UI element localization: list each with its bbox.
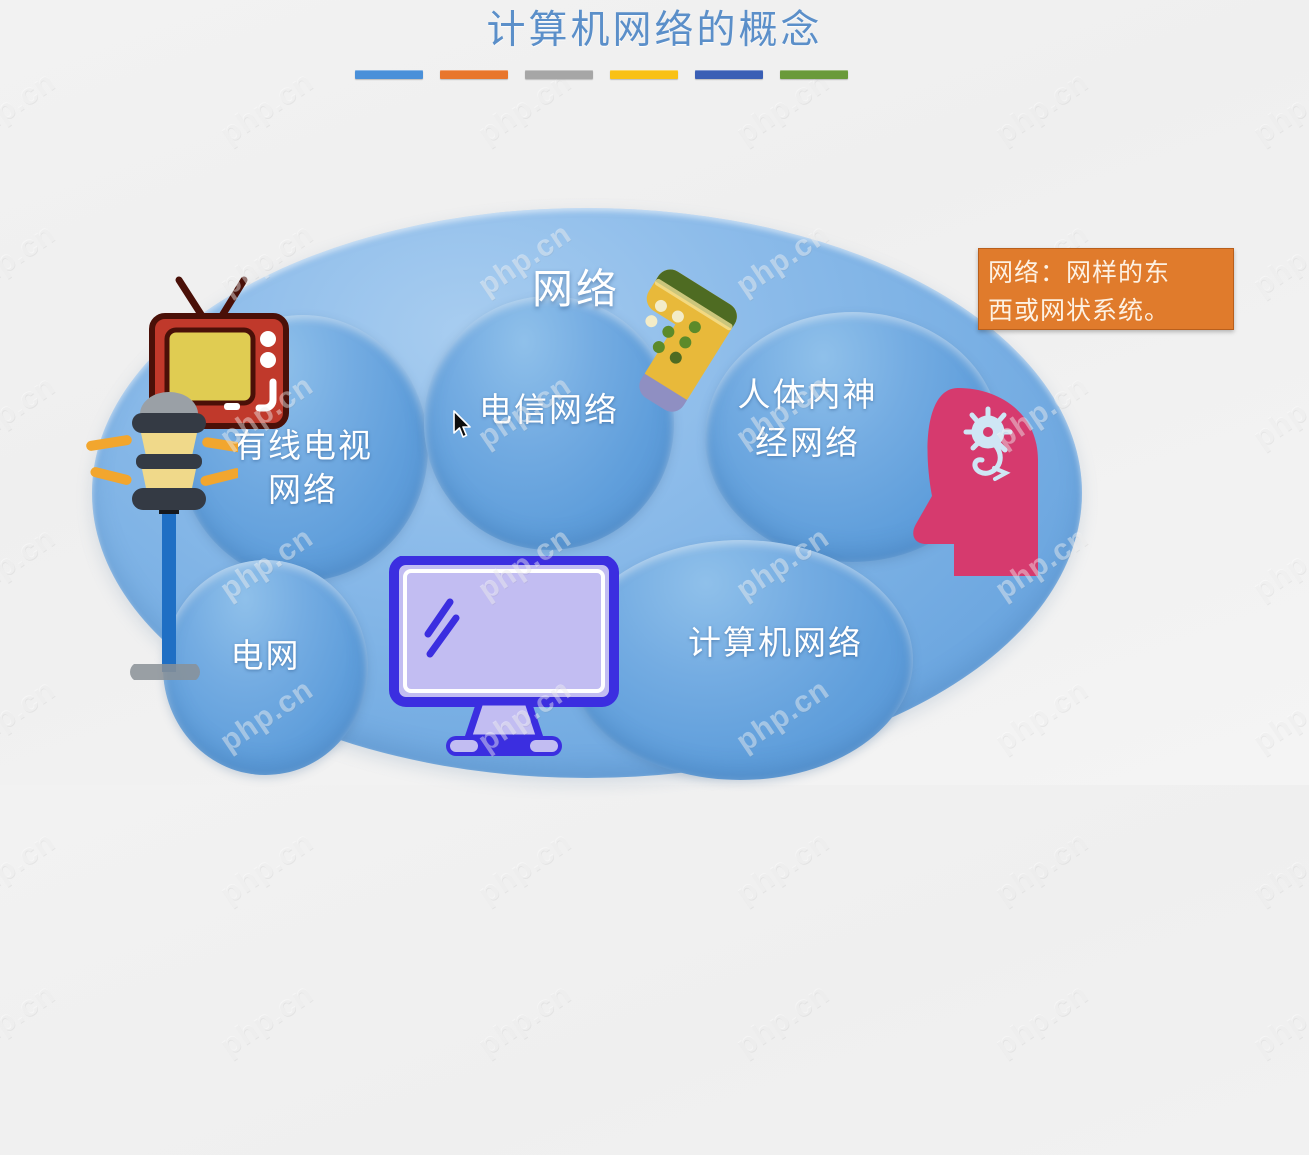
watermark-tile: php.cn	[1150, 885, 1309, 1155]
watermark-tile: php.cn	[376, 885, 675, 1155]
outer-network-label: 网络	[532, 264, 620, 314]
accent-bar-gray	[525, 70, 593, 79]
callout-line-1: 网络：网样的东	[988, 255, 1224, 293]
watermark-tile: php.cn	[0, 733, 159, 1003]
watermark-tile: php.cn	[634, 885, 933, 1155]
watermark-tile: php.cn	[1150, 581, 1309, 851]
callout-line-2: 西或网状系统。	[988, 293, 1224, 331]
telephone-handset-icon	[608, 268, 744, 423]
head-neuron-icon	[888, 382, 1048, 582]
watermark-tile: php.cn	[1150, 733, 1309, 1003]
watermark-tile: php.cn	[0, 125, 159, 395]
watermark-tile: php.cn	[892, 885, 1191, 1155]
watermark-tile: php.cn	[118, 885, 417, 1155]
node-computer-network-label: 计算机网络	[638, 622, 913, 666]
computer-monitor-icon	[388, 556, 620, 760]
watermark-tile: php.cn	[892, 733, 1191, 1003]
mouse-cursor-icon	[452, 410, 474, 440]
definition-callout: 网络：网样的东 西或网状系统。	[978, 248, 1234, 330]
accent-bar-green	[780, 70, 848, 79]
broadcast-tower-icon	[86, 392, 238, 682]
watermark-tile: php.cn	[1150, 429, 1309, 699]
accent-bar-row	[355, 70, 848, 79]
accent-bar-blue	[355, 70, 423, 79]
slide-canvas: 计算机网络的概念 网络 有线电视 网络 电信网络 人体内神 经网络 电网 计算机…	[0, 0, 1309, 785]
page-title: 计算机网络的概念	[0, 4, 1309, 58]
watermark-tile: php.cn	[0, 885, 159, 1155]
accent-bar-orange	[440, 70, 508, 79]
accent-bar-yellow	[610, 70, 678, 79]
page-title-wrap: 计算机网络的概念	[0, 4, 1309, 58]
accent-bar-dark-blue	[695, 70, 763, 79]
